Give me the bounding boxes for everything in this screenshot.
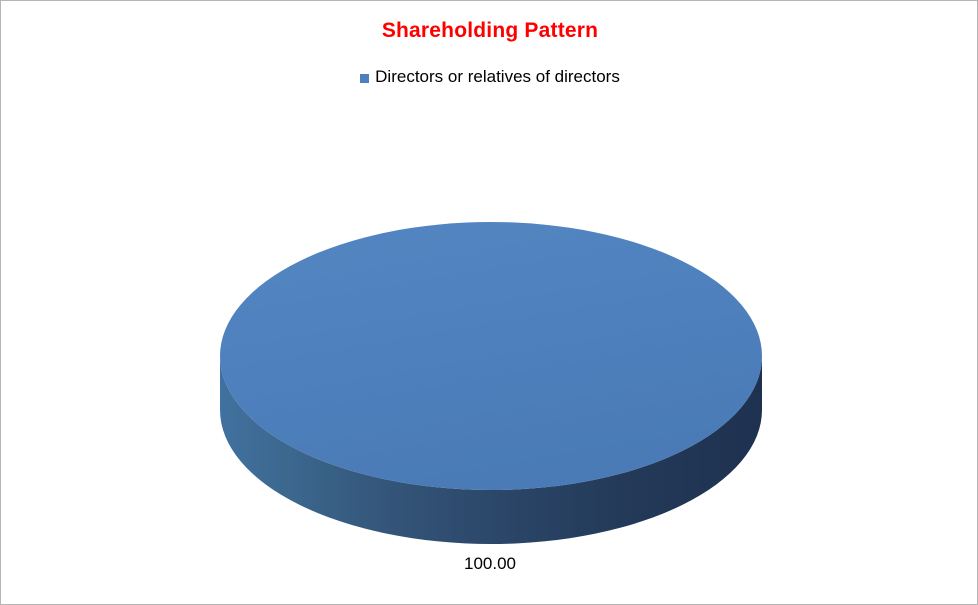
legend-item-label: Directors or relatives of directors [375, 67, 620, 87]
chart-legend: Directors or relatives of directors [1, 67, 978, 87]
square-marker-icon [360, 74, 369, 83]
pie-data-label: 100.00 [1, 554, 978, 574]
pie-chart-graphic [219, 222, 763, 544]
pie-svg [219, 222, 763, 544]
pie-slice-directors[interactable] [220, 222, 762, 490]
chart-title: Shareholding Pattern [1, 19, 978, 43]
chart-canvas: Shareholding Pattern Directors or relati… [0, 0, 978, 605]
legend-item-directors[interactable]: Directors or relatives of directors [360, 67, 620, 87]
